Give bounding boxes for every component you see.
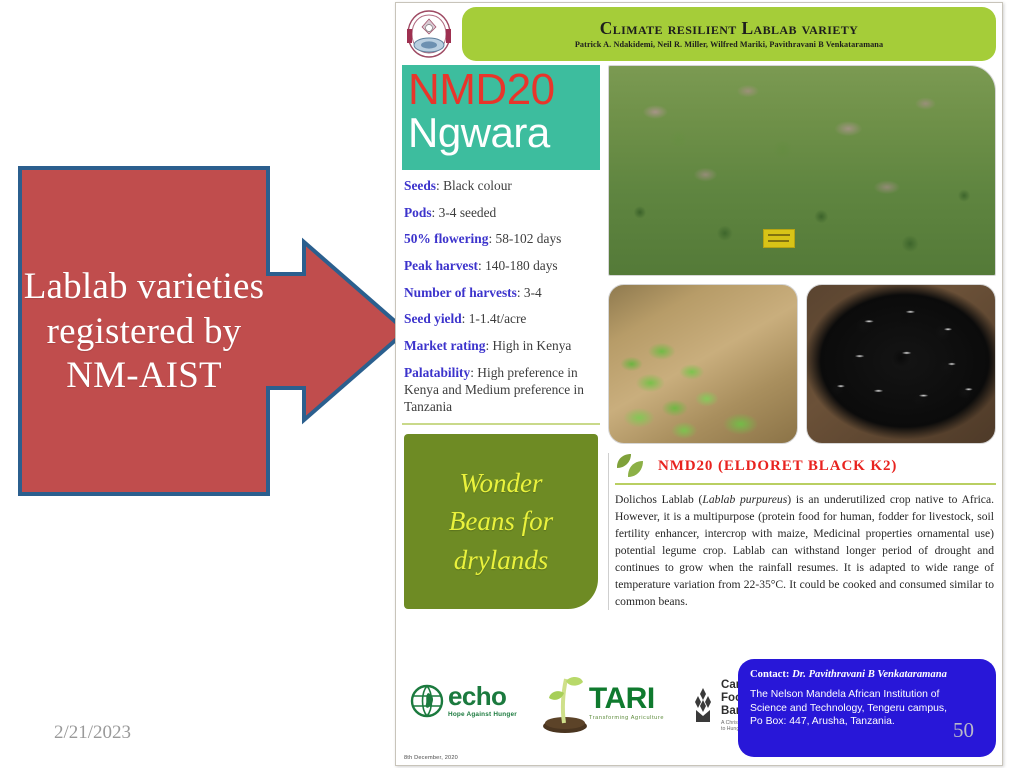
wonder-beans-label: Wonder Beans for drylands bbox=[449, 464, 553, 579]
tari-wordmark: TARI bbox=[589, 684, 664, 714]
contact-box: Contact: Dr. Pavithravani B Venkataraman… bbox=[738, 659, 996, 757]
spec-row: Market rating: High in Kenya bbox=[404, 337, 598, 354]
spec-colon: : bbox=[517, 285, 524, 300]
description-header: NMD20 (ELDORET BLACK K2) bbox=[615, 453, 996, 485]
spec-label: Peak harvest bbox=[404, 258, 478, 273]
spec-row: Seed yield: 1-1.4t/acre bbox=[404, 310, 598, 327]
spec-value: 1-1.4t/acre bbox=[469, 311, 527, 326]
spec-row: 50% flowering: 58-102 days bbox=[404, 230, 598, 247]
poster-image: Climate resilient Lablab variety Patrick… bbox=[395, 2, 1003, 766]
variety-spec-list: Seeds: Black colour Pods: 3-4 seeded 50%… bbox=[402, 170, 600, 425]
spec-label: Number of harvests bbox=[404, 285, 517, 300]
poster-right-column: NMD20 (ELDORET BLACK K2) Dolichos Lablab… bbox=[605, 65, 996, 655]
field-plot-label-sign bbox=[763, 229, 795, 248]
wonder-beans-box: Wonder Beans for drylands bbox=[404, 434, 598, 609]
crest-svg bbox=[400, 7, 458, 61]
contact-person: Dr. Pavithravani B Venkataramana bbox=[792, 669, 947, 680]
spec-row: Peak harvest: 140-180 days bbox=[404, 257, 598, 274]
echo-wordmark: echo bbox=[448, 683, 517, 709]
contact-address: The Nelson Mandela African Institution o… bbox=[750, 688, 984, 729]
lablab-seedlings-photo bbox=[608, 284, 798, 444]
variety-name-block: NMD20 Ngwara bbox=[402, 65, 600, 170]
poster-authors: Patrick A. Ndakidemi, Neil R. Miller, Wi… bbox=[575, 40, 883, 49]
spec-label: Seeds bbox=[404, 178, 436, 193]
spec-colon: : bbox=[485, 338, 492, 353]
spec-value: 58-102 days bbox=[496, 231, 562, 246]
poster-title: Climate resilient Lablab variety bbox=[600, 19, 859, 37]
contact-label: Contact: bbox=[750, 669, 789, 680]
poster-photo-row bbox=[608, 284, 996, 444]
spec-row: Pods: 3-4 seeded bbox=[404, 204, 598, 221]
spec-colon: : bbox=[488, 231, 495, 246]
echo-logo: echo Hope Against Hunger bbox=[410, 683, 517, 718]
spec-value: High in Kenya bbox=[493, 338, 572, 353]
variety-name: Ngwara bbox=[408, 112, 594, 155]
species-name: Lablab purpureus bbox=[702, 493, 787, 506]
slide-canvas: Lablab varieties registered by NM-AIST 2… bbox=[0, 0, 1024, 768]
description-body: ) is an underutilized crop native to Afr… bbox=[615, 493, 994, 608]
spec-colon: : bbox=[432, 205, 439, 220]
leaf-icon bbox=[615, 453, 649, 479]
description-block: NMD20 (ELDORET BLACK K2) Dolichos Lablab… bbox=[608, 453, 996, 610]
variety-code: NMD20 bbox=[408, 67, 594, 112]
tari-tagline: Transforming Agriculture bbox=[589, 715, 664, 721]
spec-row: Palatability: High preference in Kenya a… bbox=[404, 364, 598, 415]
spec-row: Seeds: Black colour bbox=[404, 177, 598, 194]
tari-sprout-icon bbox=[543, 671, 587, 733]
poster-header: Climate resilient Lablab variety Patrick… bbox=[396, 3, 1002, 65]
spec-label: Palatability bbox=[404, 365, 470, 380]
description-lead: Dolichos Lablab ( bbox=[615, 493, 702, 506]
spec-label: Market rating bbox=[404, 338, 485, 353]
nm-aist-crest-icon bbox=[400, 7, 458, 61]
callout-label: Lablab varieties registered by NM-AIST bbox=[22, 186, 266, 478]
page-number: 50 bbox=[953, 718, 974, 743]
spec-value: 140-180 days bbox=[485, 258, 558, 273]
lablab-field-photo bbox=[608, 65, 996, 276]
tari-logo: TARI Transforming Agriculture bbox=[543, 671, 664, 733]
leaf-svg bbox=[615, 453, 649, 479]
spec-value: 3-4 bbox=[524, 285, 542, 300]
spec-label: Seed yield bbox=[404, 311, 462, 326]
black-lablab-seeds-photo bbox=[806, 284, 996, 444]
poster-left-column: NMD20 Ngwara Seeds: Black colour Pods: 3… bbox=[402, 65, 605, 655]
spec-colon: : bbox=[462, 311, 469, 326]
description-title: NMD20 (ELDORET BLACK K2) bbox=[658, 458, 897, 475]
description-text: Dolichos Lablab (Lablab purpureus) is an… bbox=[615, 491, 996, 610]
spec-value: 3-4 seeded bbox=[439, 205, 497, 220]
contact-heading: Contact: Dr. Pavithravani B Venkataraman… bbox=[750, 669, 984, 680]
callout-arrow-shape[interactable]: Lablab varieties registered by NM-AIST bbox=[18, 166, 408, 496]
slide-date: 2/21/2023 bbox=[54, 722, 131, 744]
wheat-sheaf-icon bbox=[690, 686, 716, 726]
poster-date: 8th December, 2020 bbox=[404, 755, 458, 761]
spec-row: Number of harvests: 3-4 bbox=[404, 284, 598, 301]
echo-globe-icon bbox=[410, 684, 444, 718]
spec-value: Black colour bbox=[443, 178, 512, 193]
echo-tagline: Hope Against Hunger bbox=[448, 711, 517, 718]
spec-label: Pods bbox=[404, 205, 432, 220]
spec-label: 50% flowering bbox=[404, 231, 488, 246]
poster-title-band: Climate resilient Lablab variety Patrick… bbox=[462, 7, 996, 61]
poster-body: NMD20 Ngwara Seeds: Black colour Pods: 3… bbox=[396, 65, 1002, 655]
